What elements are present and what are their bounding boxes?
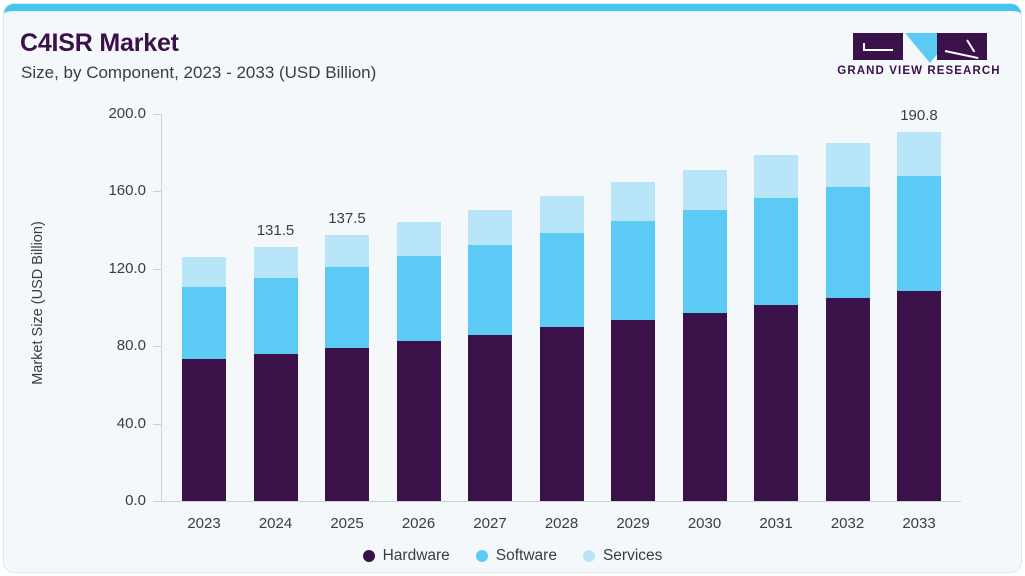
legend-label: Hardware xyxy=(383,547,450,565)
bar-segment-software[interactable] xyxy=(182,287,226,359)
bar-2029[interactable] xyxy=(611,11,655,501)
bar-value-label: 190.8 xyxy=(874,107,964,124)
chart-plot-area: Market Size (USD Billion) 0.040.080.0120… xyxy=(4,11,1021,572)
bar-segment-software[interactable] xyxy=(468,245,512,335)
bar-segment-software[interactable] xyxy=(254,278,298,355)
bar-segment-hardware[interactable] xyxy=(468,335,512,501)
y-tick-label: 200.0 xyxy=(26,105,146,122)
bar-segment-software[interactable] xyxy=(397,256,441,342)
bar-segment-hardware[interactable] xyxy=(826,298,870,501)
bar-segment-software[interactable] xyxy=(897,176,941,292)
bar-segment-software[interactable] xyxy=(325,267,369,348)
bar-2032[interactable] xyxy=(826,11,870,501)
y-tick-mark xyxy=(153,114,162,115)
y-tick-label: 0.0 xyxy=(26,492,146,509)
bar-segment-services[interactable] xyxy=(897,132,941,176)
legend-item-services[interactable]: Services xyxy=(583,547,662,565)
legend-label: Software xyxy=(496,547,557,565)
bar-segment-software[interactable] xyxy=(683,210,727,313)
y-tick-label: 120.0 xyxy=(26,260,146,277)
chart-card: C4ISR Market Size, by Component, 2023 - … xyxy=(4,4,1021,572)
y-axis-line xyxy=(161,114,162,502)
bar-segment-services[interactable] xyxy=(826,143,870,187)
bar-segment-hardware[interactable] xyxy=(254,354,298,501)
bar-value-label: 137.5 xyxy=(302,210,392,227)
bar-2030[interactable] xyxy=(683,11,727,501)
bar-segment-services[interactable] xyxy=(182,257,226,287)
bar-2025[interactable] xyxy=(325,11,369,501)
bar-segment-services[interactable] xyxy=(540,196,584,233)
y-tick-mark xyxy=(153,501,162,502)
bar-segment-hardware[interactable] xyxy=(611,320,655,501)
bar-2024[interactable] xyxy=(254,11,298,501)
y-tick-mark xyxy=(153,191,162,192)
legend-swatch-icon xyxy=(583,550,595,562)
bar-segment-hardware[interactable] xyxy=(325,348,369,501)
y-tick-label: 40.0 xyxy=(26,415,146,432)
bar-segment-software[interactable] xyxy=(540,233,584,327)
legend-swatch-icon xyxy=(476,550,488,562)
bar-2031[interactable] xyxy=(754,11,798,501)
bar-segment-services[interactable] xyxy=(254,247,298,278)
legend-item-hardware[interactable]: Hardware xyxy=(363,547,450,565)
legend-item-software[interactable]: Software xyxy=(476,547,557,565)
y-tick-mark xyxy=(153,346,162,347)
bar-segment-services[interactable] xyxy=(468,210,512,245)
bar-segment-software[interactable] xyxy=(826,187,870,298)
bar-segment-services[interactable] xyxy=(397,222,441,255)
bar-segment-hardware[interactable] xyxy=(754,305,798,501)
bar-segment-software[interactable] xyxy=(611,221,655,320)
y-tick-mark xyxy=(153,424,162,425)
bar-segment-hardware[interactable] xyxy=(897,291,941,501)
y-tick-label: 80.0 xyxy=(26,337,146,354)
bar-segment-hardware[interactable] xyxy=(540,327,584,501)
bar-segment-software[interactable] xyxy=(754,198,798,305)
legend-swatch-icon xyxy=(363,550,375,562)
bar-segment-services[interactable] xyxy=(683,170,727,210)
bar-segment-hardware[interactable] xyxy=(397,341,441,501)
y-tick-label: 160.0 xyxy=(26,182,146,199)
bar-2027[interactable] xyxy=(468,11,512,501)
bar-segment-services[interactable] xyxy=(325,235,369,267)
legend-label: Services xyxy=(603,547,662,565)
y-tick-mark xyxy=(153,269,162,270)
bar-segment-hardware[interactable] xyxy=(683,313,727,501)
chart-legend: HardwareSoftwareServices xyxy=(4,547,1021,565)
bar-2023[interactable] xyxy=(182,11,226,501)
bar-segment-services[interactable] xyxy=(754,155,798,197)
bar-segment-services[interactable] xyxy=(611,182,655,221)
bar-2028[interactable] xyxy=(540,11,584,501)
x-tick-label: 2033 xyxy=(874,515,964,532)
bar-segment-hardware[interactable] xyxy=(182,359,226,501)
bar-2026[interactable] xyxy=(397,11,441,501)
x-axis-line xyxy=(161,501,961,502)
bar-2033[interactable] xyxy=(897,11,941,501)
